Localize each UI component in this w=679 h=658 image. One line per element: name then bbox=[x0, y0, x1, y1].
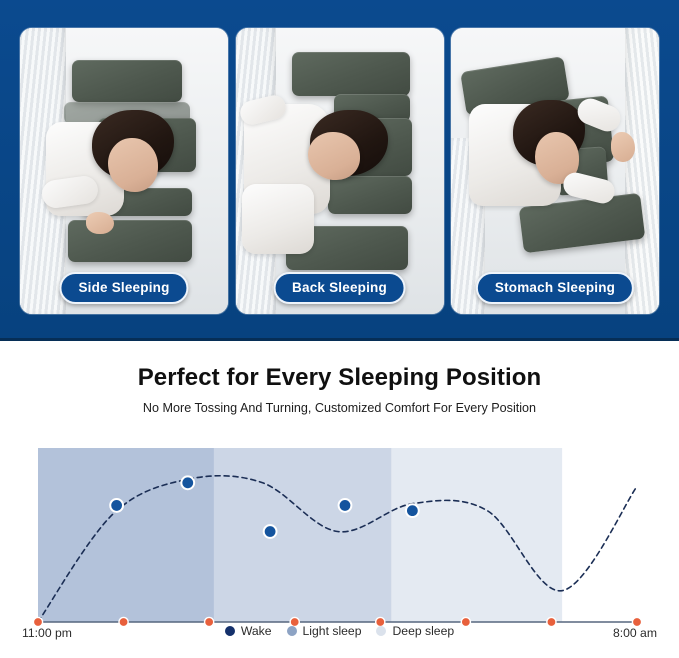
chart-band-1 bbox=[214, 448, 391, 622]
chart-band-0 bbox=[38, 448, 214, 622]
data-point-2[interactable] bbox=[264, 525, 277, 538]
legend-label-light-sleep: Light sleep bbox=[303, 624, 362, 638]
legend-label-wake: Wake bbox=[241, 624, 272, 638]
promo-section: Perfect for Every Sleeping Position No M… bbox=[0, 344, 679, 658]
sleep-cycle-chart: 11:00 pm 8:00 am Wake Light sleep Deep s… bbox=[0, 440, 679, 658]
data-point-0[interactable] bbox=[110, 499, 123, 512]
legend-item-deep-sleep: Deep sleep bbox=[376, 624, 454, 638]
data-point-1[interactable] bbox=[181, 476, 194, 489]
legend-label-deep-sleep: Deep sleep bbox=[392, 624, 454, 638]
sleep-chart-svg bbox=[0, 440, 679, 630]
sleeping-position-cards: Side Sleeping Back Sleeping bbox=[0, 0, 679, 341]
data-point-3[interactable] bbox=[339, 499, 352, 512]
hero-banner: Side Sleeping Back Sleeping bbox=[0, 0, 679, 341]
page-title: Perfect for Every Sleeping Position bbox=[0, 364, 679, 392]
card-label-stomach-sleeping: Stomach Sleeping bbox=[476, 272, 634, 304]
card-label-back-sleeping: Back Sleeping bbox=[273, 272, 406, 304]
legend-dot-deep-sleep bbox=[376, 626, 386, 636]
card-label-side-sleeping: Side Sleeping bbox=[59, 272, 188, 304]
card-stomach-sleeping[interactable]: Stomach Sleeping bbox=[451, 28, 659, 314]
legend-dot-light-sleep bbox=[287, 626, 297, 636]
chart-legend: Wake Light sleep Deep sleep bbox=[0, 624, 679, 638]
page-subtitle: No More Tossing And Turning, Customized … bbox=[0, 401, 679, 415]
chart-band-2 bbox=[391, 448, 562, 622]
legend-item-light-sleep: Light sleep bbox=[287, 624, 362, 638]
card-side-sleeping[interactable]: Side Sleeping bbox=[20, 28, 228, 314]
legend-dot-wake bbox=[225, 626, 235, 636]
data-point-4[interactable] bbox=[406, 504, 419, 517]
legend-item-wake: Wake bbox=[225, 624, 272, 638]
card-back-sleeping[interactable]: Back Sleeping bbox=[236, 28, 444, 314]
